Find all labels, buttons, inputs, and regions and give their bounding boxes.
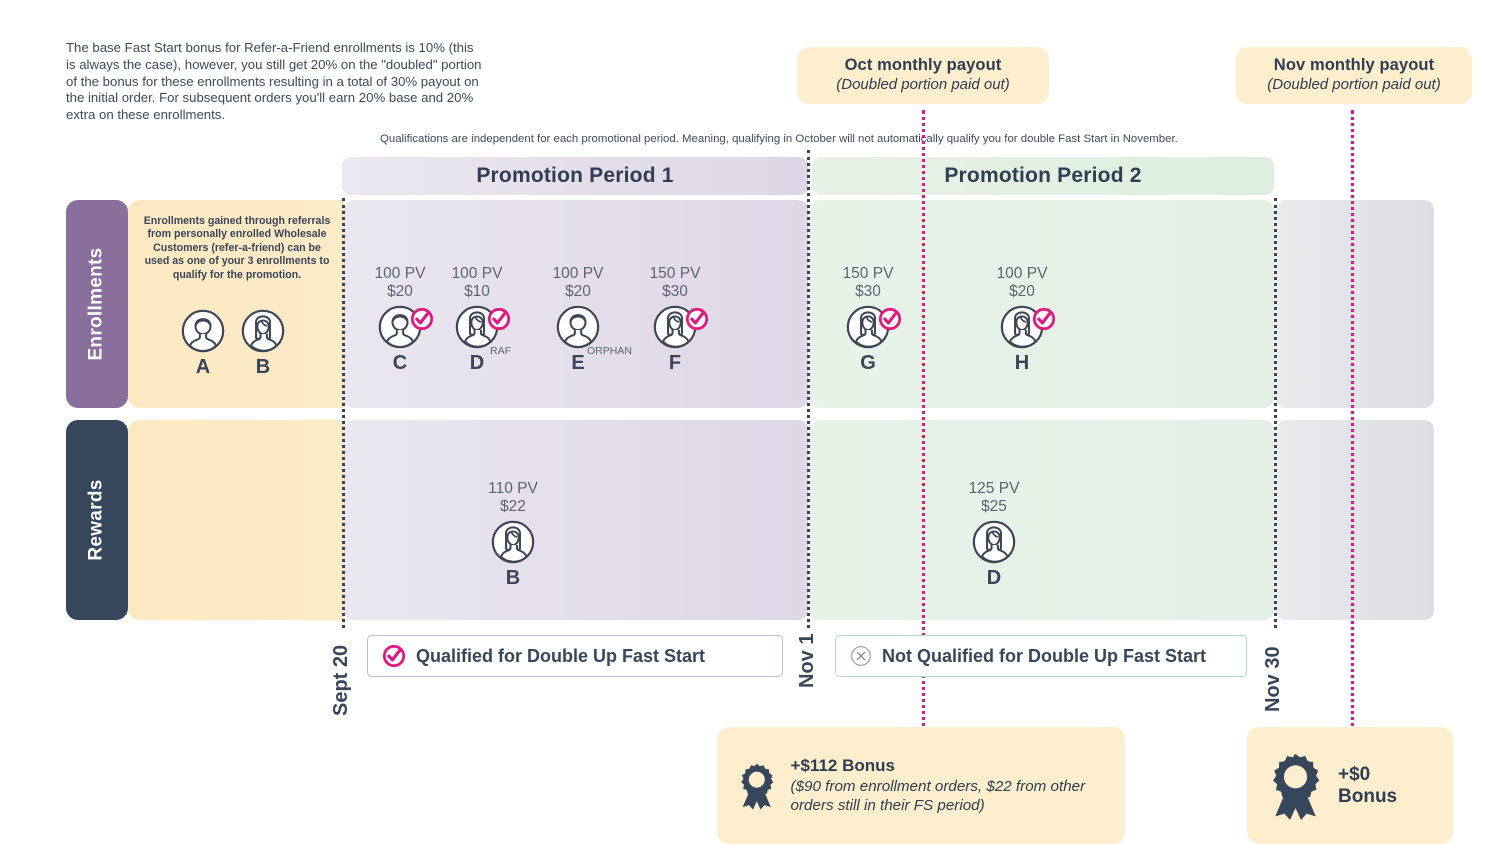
check-circle-icon xyxy=(1032,307,1056,331)
promotion-period-1-header: Promotion Period 1 xyxy=(342,157,808,195)
x-circle-icon xyxy=(850,645,872,667)
qualification-note: Qualifications are independent for each … xyxy=(380,133,1250,145)
avatar-male-icon xyxy=(181,309,225,353)
nov-payout-callout: Nov monthly payout (Doubled portion paid… xyxy=(1236,47,1472,104)
person-C-amount: $20 xyxy=(363,283,437,301)
not-qualified-banner-label: Not Qualified for Double Up Fast Start xyxy=(882,646,1206,667)
person-D-pv: 100 PV xyxy=(440,265,514,283)
person-H: 100 PV $20 H xyxy=(985,265,1059,375)
check-circle-icon xyxy=(410,307,434,331)
avatar-reward-B xyxy=(491,520,535,564)
person-D-amount: $10 xyxy=(440,283,514,301)
avatar-reward-D xyxy=(972,520,1016,564)
nov-payout-subtitle: (Doubled portion paid out) xyxy=(1254,76,1454,93)
person-F-letter: F xyxy=(638,352,712,375)
date-label-sept-20: Sept 20 xyxy=(330,645,353,716)
band-rewards-post-period xyxy=(1276,420,1434,620)
person-C-letter: C xyxy=(363,352,437,375)
reward-D-amount: $25 xyxy=(957,498,1031,516)
person-E-amount: $20 xyxy=(541,283,615,301)
reward-person-B: 110 PV $22 B xyxy=(476,480,550,590)
qualified-banner: Qualified for Double Up Fast Start xyxy=(367,635,783,677)
qualified-banner-label: Qualified for Double Up Fast Start xyxy=(416,646,705,667)
oct-payout-subtitle: (Doubled portion paid out) xyxy=(815,76,1031,93)
person-E-pv: 100 PV xyxy=(541,265,615,283)
divider-sept-20 xyxy=(342,198,345,628)
person-H-letter: H xyxy=(985,352,1059,375)
person-G-amount: $30 xyxy=(831,283,905,301)
person-C-pv: 100 PV xyxy=(363,265,437,283)
divider-nov-payout xyxy=(1351,110,1354,740)
check-circle-icon xyxy=(382,644,406,668)
avatar-A xyxy=(181,309,225,353)
band-rewards-period1 xyxy=(344,420,808,620)
check-circle-icon xyxy=(878,307,902,331)
avatar-female-icon xyxy=(241,309,285,353)
check-circle-icon xyxy=(685,307,709,331)
date-label-nov-30: Nov 30 xyxy=(1262,646,1285,712)
band-rewards-period2 xyxy=(810,420,1274,620)
referral-info-text: Enrollments gained through referrals fro… xyxy=(142,215,332,282)
band-rewards-pre-period xyxy=(128,420,344,620)
reward-B-letter: B xyxy=(476,567,550,590)
date-label-nov-1: Nov 1 xyxy=(796,634,819,688)
oct-payout-callout: Oct monthly payout (Doubled portion paid… xyxy=(797,47,1049,104)
divider-nov-1 xyxy=(807,150,810,628)
avatar-male-icon xyxy=(556,305,600,349)
bonus-nov-title: +$0 Bonus xyxy=(1338,764,1433,808)
person-C: 100 PV $20 C xyxy=(363,265,437,375)
oct-payout-title: Oct monthly payout xyxy=(815,56,1031,75)
nov-payout-title: Nov monthly payout xyxy=(1254,56,1454,75)
bonus-oct-subtitle: ($90 from enrollment orders, $22 from ot… xyxy=(791,777,1105,815)
avatar-H xyxy=(1000,305,1044,349)
reward-person-D: 125 PV $25 D xyxy=(957,480,1031,590)
person-F-pv: 150 PV xyxy=(638,265,712,283)
reward-B-amount: $22 xyxy=(476,498,550,516)
divider-nov-30 xyxy=(1274,198,1277,628)
bonus-card-oct: +$112 Bonus ($90 from enrollment orders,… xyxy=(717,727,1125,844)
reward-B-pv: 110 PV xyxy=(476,480,550,498)
reward-D-pv: 125 PV xyxy=(957,480,1031,498)
person-H-amount: $20 xyxy=(985,283,1059,301)
person-D: 100 PV $10 D RAF xyxy=(440,265,514,375)
person-E-tag: ORPHAN xyxy=(587,345,632,357)
avatar-D xyxy=(455,305,499,349)
intro-paragraph: The base Fast Start bonus for Refer-a-Fr… xyxy=(66,40,486,124)
reward-D-letter: D xyxy=(957,567,1031,590)
person-B-letter: B xyxy=(226,356,300,379)
avatar-female-icon xyxy=(972,520,1016,564)
person-H-pv: 100 PV xyxy=(985,265,1059,283)
row-label-rewards: Rewards xyxy=(66,420,128,620)
promotion-period-2-header: Promotion Period 2 xyxy=(812,157,1274,195)
avatar-E xyxy=(556,305,600,349)
not-qualified-banner: Not Qualified for Double Up Fast Start xyxy=(835,635,1247,677)
award-ribbon-icon xyxy=(1267,751,1324,821)
check-circle-icon xyxy=(487,307,511,331)
person-G-letter: G xyxy=(831,352,905,375)
avatar-B xyxy=(241,309,285,353)
band-enrollments-post-period xyxy=(1276,200,1434,408)
avatar-female-icon xyxy=(491,520,535,564)
avatar-F xyxy=(653,305,697,349)
row-label-enrollments-text: Enrollments xyxy=(86,247,108,360)
avatar-C xyxy=(378,305,422,349)
person-B: B xyxy=(226,305,300,379)
infographic-canvas: The base Fast Start bonus for Refer-a-Fr… xyxy=(0,0,1500,844)
bonus-card-nov: +$0 Bonus xyxy=(1247,727,1453,844)
avatar-G xyxy=(846,305,890,349)
person-F: 150 PV $30 F xyxy=(638,265,712,375)
person-F-amount: $30 xyxy=(638,283,712,301)
row-label-enrollments: Enrollments xyxy=(66,200,128,408)
bonus-oct-title: +$112 Bonus xyxy=(791,756,1105,776)
person-E: 100 PV $20 E ORPHAN xyxy=(541,265,615,375)
person-G-pv: 150 PV xyxy=(831,265,905,283)
award-ribbon-icon xyxy=(737,749,777,823)
person-G: 150 PV $30 G xyxy=(831,265,905,375)
row-label-rewards-text: Rewards xyxy=(86,479,108,560)
person-D-tag: RAF xyxy=(490,345,511,357)
